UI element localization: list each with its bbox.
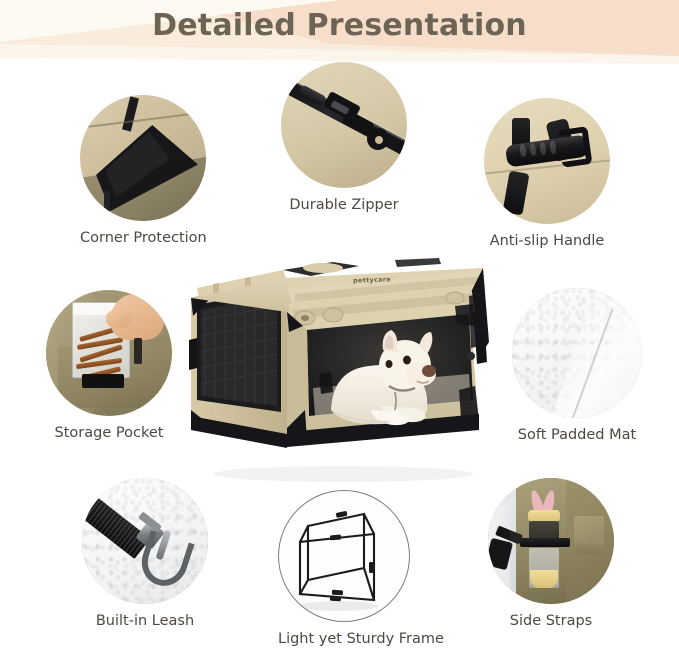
bottle-strap-icon xyxy=(488,478,614,604)
feature-label: Anti-slip Handle xyxy=(484,233,610,249)
feature-light-yet-sturdy-frame[interactable]: Light yet Sturdy Frame xyxy=(278,490,410,647)
feature-soft-padded-mat[interactable]: Soft Padded Mat xyxy=(512,288,642,443)
zipper-icon xyxy=(281,62,407,188)
product-image: pettycare xyxy=(183,250,501,485)
leash-clip-icon xyxy=(82,478,208,604)
page-title: Detailed Presentation xyxy=(0,8,679,43)
feature-corner-protection[interactable]: Corner Protection xyxy=(80,95,206,246)
feature-durable-zipper[interactable]: Durable Zipper xyxy=(281,62,407,213)
feature-side-straps[interactable]: Side Straps xyxy=(488,478,614,629)
feature-built-in-leash[interactable]: Built-in Leash xyxy=(82,478,208,629)
feature-label: Built-in Leash xyxy=(82,613,208,629)
feature-label: Soft Padded Mat xyxy=(512,427,642,443)
feature-label: Corner Protection xyxy=(80,230,206,246)
feature-label: Durable Zipper xyxy=(281,197,407,213)
feature-anti-slip-handle[interactable]: Anti-slip Handle xyxy=(484,98,610,249)
feature-label: Storage Pocket xyxy=(46,425,172,441)
pet-crate-illustration xyxy=(183,250,501,485)
fleece-mat-icon xyxy=(512,288,642,418)
pocket-icon xyxy=(46,290,172,416)
corner-protector-icon xyxy=(80,95,206,221)
frame-diagram xyxy=(278,490,410,622)
feature-label: Side Straps xyxy=(488,613,614,629)
wire-frame-icon xyxy=(278,490,410,622)
feature-storage-pocket[interactable]: Storage Pocket xyxy=(46,290,172,441)
feature-label: Light yet Sturdy Frame xyxy=(278,631,410,647)
brand-logo: pettycare xyxy=(353,275,391,284)
handle-icon xyxy=(484,98,610,224)
